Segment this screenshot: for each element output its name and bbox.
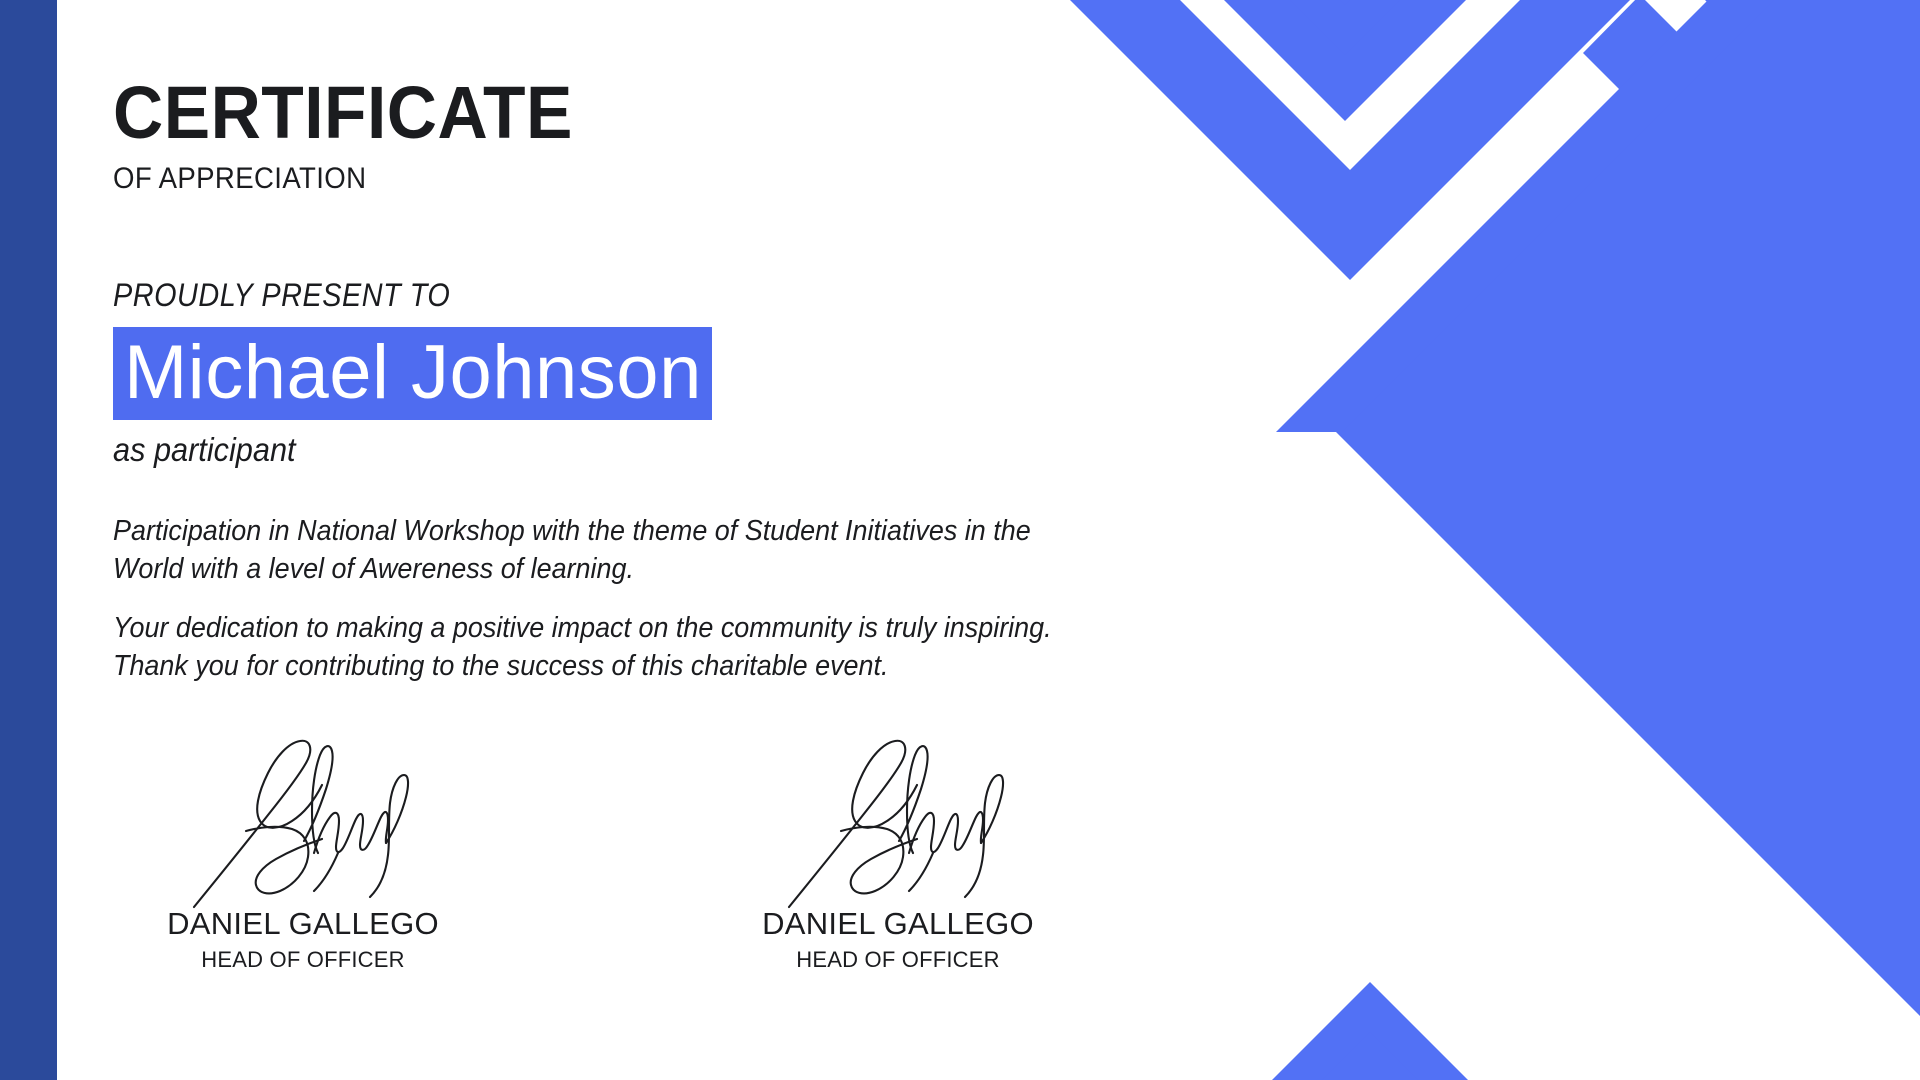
signature-row: DANIEL GALLEGO HEAD OF OFFICER	[113, 735, 1123, 973]
signature-block-right: DANIEL GALLEGO HEAD OF OFFICER	[708, 735, 1088, 973]
body-paragraph-2: Your dedication to making a positive imp…	[113, 610, 1067, 685]
signer-name: DANIEL GALLEGO	[762, 906, 1034, 942]
recipient-name-wrapper: Michael Johnson	[113, 327, 712, 420]
signer-title: HEAD OF OFFICER	[796, 947, 999, 973]
handwritten-signature-icon	[783, 735, 1013, 910]
body-paragraph-1: Participation in National Workshop with …	[113, 513, 1067, 588]
certificate-subtitle: OF APPRECIATION	[113, 162, 1033, 196]
signer-name: DANIEL GALLEGO	[167, 906, 439, 942]
left-accent-bar	[0, 0, 57, 1080]
signature-block-left: DANIEL GALLEGO HEAD OF OFFICER	[113, 735, 493, 973]
present-to-label: PROUDLY PRESENT TO	[113, 277, 1013, 314]
body-text-block: Participation in National Workshop with …	[113, 513, 1123, 685]
title-block: CERTIFICATE OF APPRECIATION	[113, 78, 1113, 196]
signer-title: HEAD OF OFFICER	[201, 947, 404, 973]
handwritten-signature-icon	[188, 735, 418, 910]
certificate-canvas: CERTIFICATE OF APPRECIATION PROUDLY PRES…	[0, 0, 1920, 1080]
certificate-content: CERTIFICATE OF APPRECIATION PROUDLY PRES…	[113, 0, 1213, 1080]
recipient-role: as participant	[113, 431, 1043, 469]
recipient-block: PROUDLY PRESENT TO Michael Johnson as pa…	[113, 277, 1113, 469]
recipient-name: Michael Johnson	[113, 327, 712, 420]
certificate-title: CERTIFICATE	[113, 78, 1053, 148]
